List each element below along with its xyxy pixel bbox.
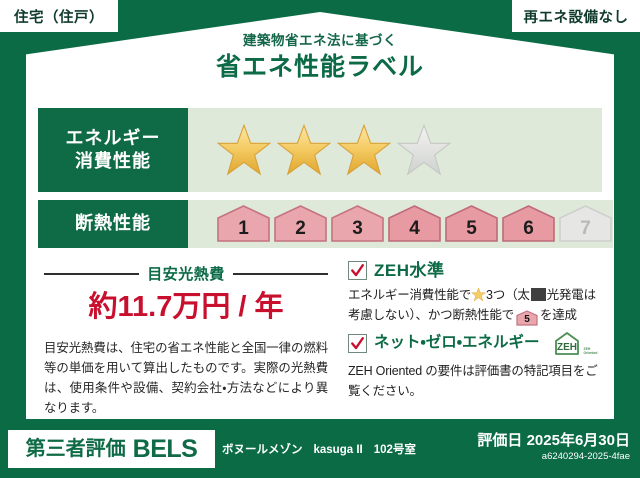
- certification-checks: ZEH水準 エネルギー消費性能で3つ（太光発電は考慮しない）、かつ断熱性能で5を…: [342, 257, 614, 419]
- bels-en-label: BELS: [133, 437, 198, 462]
- label-body: 目安光熱費 約11.7万円 / 年 目安光熱費は、住宅の省エネ性能と全国一律の燃…: [26, 257, 614, 419]
- energy-performance-label: 建築物省エネ法に基づく 省エネ性能ラベル 住宅（住戸） 再エネ設備なし エネルギ…: [0, 0, 640, 478]
- insulation-level-3: 3: [330, 205, 385, 243]
- insulation-level-scale: 1 2 3: [216, 205, 613, 244]
- utility-cost-amount: 約11.7万円 / 年: [44, 292, 328, 324]
- insulation-performance-row: 断熱性能 1 2: [38, 200, 602, 248]
- insulation-level-2-number: 2: [295, 219, 306, 243]
- zeh-body-part4: を達成: [540, 308, 577, 322]
- check-zeh-standard-title: ZEH水準: [374, 262, 445, 279]
- utility-cost-heading-text: 目安光熱費: [147, 263, 225, 284]
- zeh-logo-icon: ZEH ZEH Oriented: [550, 330, 594, 356]
- check-icon: [350, 263, 365, 278]
- property-unit: 102号室: [374, 444, 416, 456]
- zeh-logo-sub-line2: Oriented: [584, 351, 598, 355]
- svg-text:ZEH: ZEH: [557, 342, 577, 353]
- evaluation-info: 評価日 2025年6月30日 a6240294-2025-4fae: [477, 433, 630, 462]
- star-rating: [216, 122, 452, 178]
- insulation-level-6: 6: [501, 205, 556, 243]
- rule-left: [44, 273, 139, 275]
- rule-right: [233, 273, 328, 275]
- insulation-performance-label-box: 断熱性能: [38, 200, 188, 248]
- insulation-level-5-number: 5: [466, 219, 477, 243]
- zeh-body-part1: エネルギー消費性能で: [348, 288, 471, 302]
- star-icon-inline: [471, 287, 486, 302]
- insulation-level-4-number: 4: [409, 219, 420, 243]
- energy-performance-value: [188, 108, 602, 192]
- check-zeh-standard: ZEH水準 エネルギー消費性能で3つ（太光発電は考慮しない）、かつ断熱性能で5を…: [348, 261, 598, 326]
- insulation-badge-level5: 5: [516, 310, 538, 326]
- insulation-level-3-number: 3: [352, 219, 363, 243]
- insulation-badge-level5-number: 5: [516, 310, 538, 330]
- insulation-label-line1: 断熱性能: [75, 212, 151, 235]
- check-net-zero-energy-title: ネット・ゼロ・エネルギー: [374, 335, 540, 351]
- star-icon-filled-1: [216, 122, 272, 178]
- evaluation-date: 評価日 2025年6月30日: [477, 433, 630, 450]
- check-net-zero-energy-body: ZEH Oriented の要件は評価書の特記項目をご覧ください。: [348, 361, 598, 401]
- badge-building-type: 住宅（住戸）: [0, 0, 118, 32]
- star-icon-filled-2: [276, 122, 332, 178]
- energy-performance-label-box: エネルギー 消費性能: [38, 108, 188, 192]
- badge-renewable-equipment: 再エネ設備なし: [512, 0, 640, 32]
- insulation-level-1-number: 1: [238, 219, 249, 243]
- insulation-level-4: 4: [387, 205, 442, 243]
- property-building: kasuga II: [314, 444, 363, 456]
- label-card: エネルギー 消費性能: [26, 97, 614, 419]
- insulation-level-7: 7: [558, 205, 613, 243]
- bels-jp-label: 第三者評価: [26, 439, 126, 459]
- zeh-logo-sublabel: ZEH Oriented: [584, 347, 598, 356]
- star-icon-empty-4: [396, 122, 452, 178]
- property-name: ボヌールメゾン: [222, 444, 303, 456]
- redacted-character: [531, 288, 546, 301]
- label-footer: 第三者評価 BELS ボヌールメゾンkasuga II102号室 評価日 202…: [0, 424, 640, 478]
- insulation-performance-value: 1 2 3: [188, 200, 613, 248]
- checkbox-net-zero-energy[interactable]: [348, 334, 367, 353]
- utility-cost-note: 目安光熱費は、住宅の省エネ性能と全国一律の燃料等の単価を用いて算出したものです。…: [44, 338, 328, 418]
- check-zeh-standard-head: ZEH水準: [348, 261, 598, 280]
- zeh-body-part2: 3つ（太: [486, 288, 530, 302]
- check-net-zero-energy: ネット・ゼロ・エネルギー ZEH ZEH Oriented: [348, 330, 598, 401]
- utility-cost-heading: 目安光熱費: [44, 263, 328, 284]
- check-icon: [350, 336, 365, 351]
- insulation-level-1: 1: [216, 205, 271, 243]
- energy-performance-row: エネルギー 消費性能: [38, 108, 602, 192]
- property-info: ボヌールメゾンkasuga II102号室: [222, 441, 416, 457]
- bels-plate: 第三者評価 BELS: [8, 430, 215, 468]
- check-net-zero-energy-head: ネット・ゼロ・エネルギー ZEH ZEH Oriented: [348, 330, 598, 356]
- star-icon-filled-3: [336, 122, 392, 178]
- insulation-level-2: 2: [273, 205, 328, 243]
- energy-label-line2: 消費性能: [75, 150, 151, 173]
- insulation-level-5: 5: [444, 205, 499, 243]
- insulation-level-7-number: 7: [580, 219, 591, 243]
- check-zeh-standard-body: エネルギー消費性能で3つ（太光発電は考慮しない）、かつ断熱性能で5を達成: [348, 285, 598, 326]
- insulation-level-6-number: 6: [523, 219, 534, 243]
- evaluation-id: a6240294-2025-4fae: [477, 452, 630, 462]
- energy-label-line1: エネルギー: [66, 127, 161, 150]
- utility-cost-section: 目安光熱費 約11.7万円 / 年 目安光熱費は、住宅の省エネ性能と全国一律の燃…: [26, 257, 342, 419]
- checkbox-zeh-standard[interactable]: [348, 261, 367, 280]
